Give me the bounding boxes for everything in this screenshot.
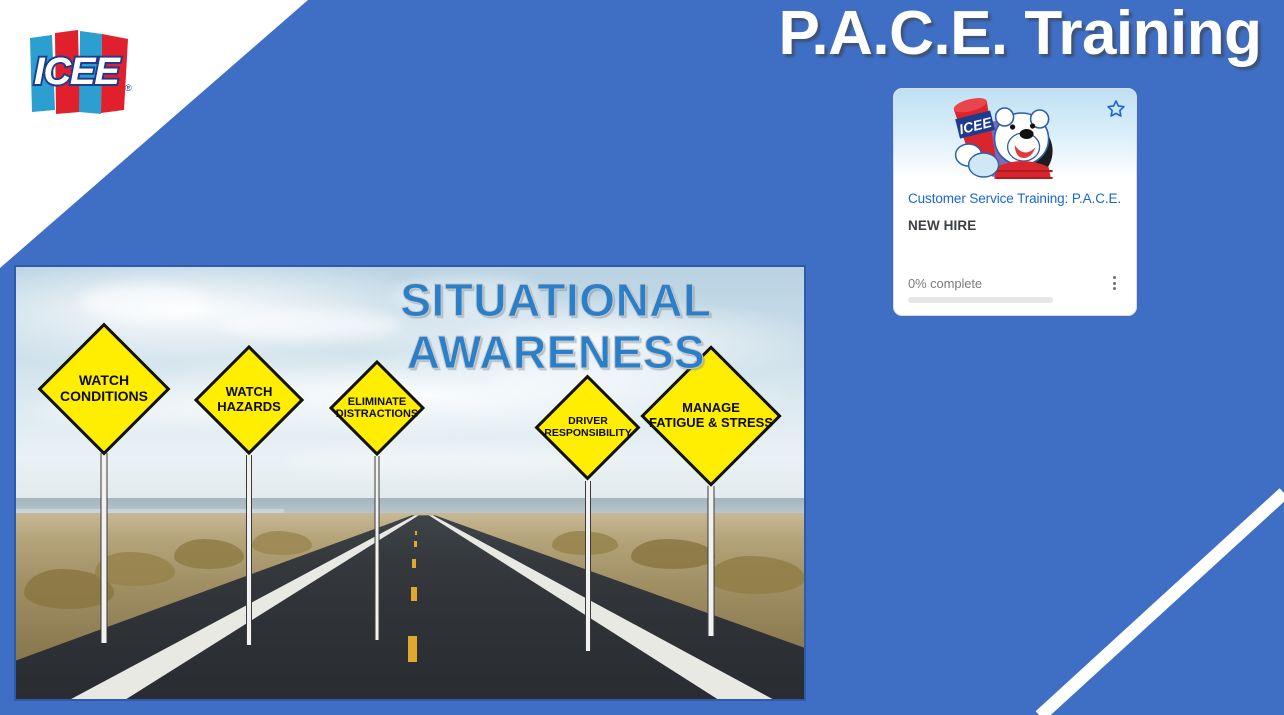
slide-canvas: ICEE ICEE ® P.A.C.E. Training (0, 0, 1284, 715)
course-card-body: Customer Service Training: P.A.C.E. NEW … (894, 179, 1136, 316)
course-card[interactable]: ICEE Customer Service Training: P.A.C.E.… (893, 88, 1137, 316)
sign-label: WATCH CONDITIONS (38, 323, 170, 455)
registered-mark: ® (125, 83, 132, 93)
sign-watch-hazards: WATCH HAZARDS (194, 345, 304, 645)
course-card-section: NEW HIRE (908, 218, 1122, 233)
headline-line-2: AWARENESS (346, 327, 766, 379)
sign-label: DRIVER RESPONSIBILITY (535, 375, 641, 481)
sign-post (708, 486, 715, 636)
icee-polar-bear-mascot-icon: ICEE (927, 89, 1097, 179)
headline-line-1: SITUATIONAL (346, 275, 766, 327)
progress-label: 0% complete (908, 276, 982, 291)
sign-eliminate-distractions: ELIMINATE DISTRACTIONS (329, 360, 425, 640)
sign-post (246, 455, 252, 645)
course-card-title[interactable]: Customer Service Training: P.A.C.E. (908, 191, 1122, 207)
more-vert-icon[interactable] (1106, 274, 1122, 292)
star-outline-icon[interactable] (1105, 98, 1127, 120)
icee-logo: ICEE ICEE ® (22, 24, 146, 122)
page-title: P.A.C.E. Training (760, 0, 1280, 69)
course-card-footer: 0% complete (908, 274, 1126, 303)
sign-manage-fatigue-stress: MANAGE FATIGUE & STRESS (641, 346, 781, 626)
sign-label: WATCH HAZARDS (194, 345, 304, 455)
sign-driver-responsibility: DRIVER RESPONSIBILITY (535, 375, 641, 645)
image-headline: SITUATIONAL AWARENESS (346, 275, 766, 378)
progress-bar (908, 297, 1053, 303)
course-card-banner: ICEE (894, 89, 1136, 179)
center-dash (408, 636, 417, 662)
sign-post (585, 481, 591, 651)
sign-post (375, 456, 380, 640)
situational-awareness-image: SITUATIONAL AWARENESS WATCH CONDITIONS W… (14, 265, 806, 701)
sign-post (101, 453, 108, 643)
sign-watch-conditions: WATCH CONDITIONS (38, 323, 170, 643)
svg-text:ICEE: ICEE (34, 51, 121, 93)
